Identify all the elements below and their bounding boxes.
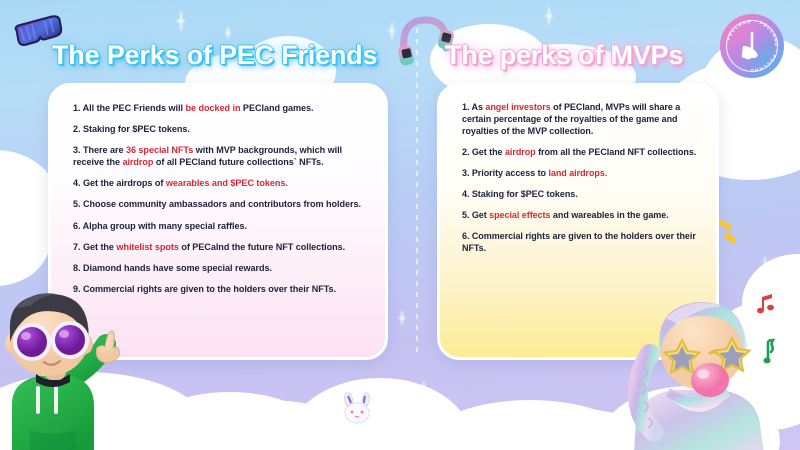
sparkle-icon [388,22,396,40]
perk-highlight: land airdrops. [548,168,607,178]
perk-text: Alpha group with many special raffles. [80,221,247,231]
perk-item: 7. Get the whitelist spots of PECalnd th… [73,241,367,253]
perk-highlight: airdrop [122,157,153,167]
perk-item: 2. Staking for $PEC tokens. [73,123,367,135]
perk-item: 4. Staking for $PEC tokens. [462,189,698,201]
perk-text: PECland games. [240,103,313,113]
perk-highlight: whitelist spots [116,242,178,252]
perk-text: Staking for $PEC tokens. [469,189,577,199]
perk-text: Staking for $PEC tokens. [80,124,189,134]
perk-item: 4. Get the airdrops of wearables and $PE… [73,177,367,189]
perk-text: As [469,102,485,112]
perk-highlight: wearables and $PEC tokens. [166,178,288,188]
perk-highlight: airdrop [505,147,536,157]
perk-text: Get the airdrops of [80,178,165,188]
perk-text: and wareables in the game. [550,210,668,220]
perk-item: 6. Alpha group with many special raffles… [73,220,367,232]
page-title-right: The perks of MVPs [445,40,683,71]
page-title-left: The Perks of PEC Friends [52,40,377,71]
sparkle-icon [544,6,553,26]
perk-text: All the PEC Friends will [80,103,185,113]
perk-item: 2. Get the airdrop from all the PECland … [462,147,698,159]
panel-divider [416,28,418,358]
perk-text: of PECalnd the future NFT collections. [179,242,345,252]
perk-text: of all PECland future collections` NFTs. [153,157,323,167]
perk-highlight: be docked in [185,103,240,113]
perk-item: 5. Choose community ambassadors and cont… [73,198,367,210]
girl-character-holographic [614,296,790,450]
perk-text: Commercial rights are given to the holde… [462,231,696,253]
perk-text: Priority access to [469,168,548,178]
perk-item: 8. Diamond hands have some special rewar… [73,262,367,274]
perk-highlight: angel investors [485,102,550,112]
perk-item: 1. All the PEC Friends will be docked in… [73,102,367,114]
perk-text: Diamond hands have some special rewards. [80,263,272,273]
bunny-icon [338,390,378,426]
perk-text: from all the PECland NFT collections. [536,147,697,157]
perk-text: Get [469,210,489,220]
sparkle-icon [225,26,231,39]
perk-item: 1. As angel investors of PECland, MVPs w… [462,102,698,138]
perk-highlight: special effects [489,210,550,220]
perk-item: 6. Commercial rights are given to the ho… [462,231,698,255]
perk-highlight: 36 special NFTs [126,145,193,155]
sparkle-icon [398,310,405,325]
perk-text: There are [80,145,125,155]
perk-text: Get the [80,242,116,252]
pecland-logo[interactable]: PECLAND · PECLAND · PECLAND · [719,13,785,79]
perk-text: Choose community ambassadors and contrib… [80,199,360,209]
sparkle-icon [176,10,186,32]
perk-item: 3. There are 36 special NFTs with MVP ba… [73,144,367,168]
boy-character-green-hoodie [0,286,146,450]
perk-item: 3. Priority access to land airdrops. [462,168,698,180]
perk-text: Get the [469,147,505,157]
perk-item: 5. Get special effects and wareables in … [462,210,698,222]
